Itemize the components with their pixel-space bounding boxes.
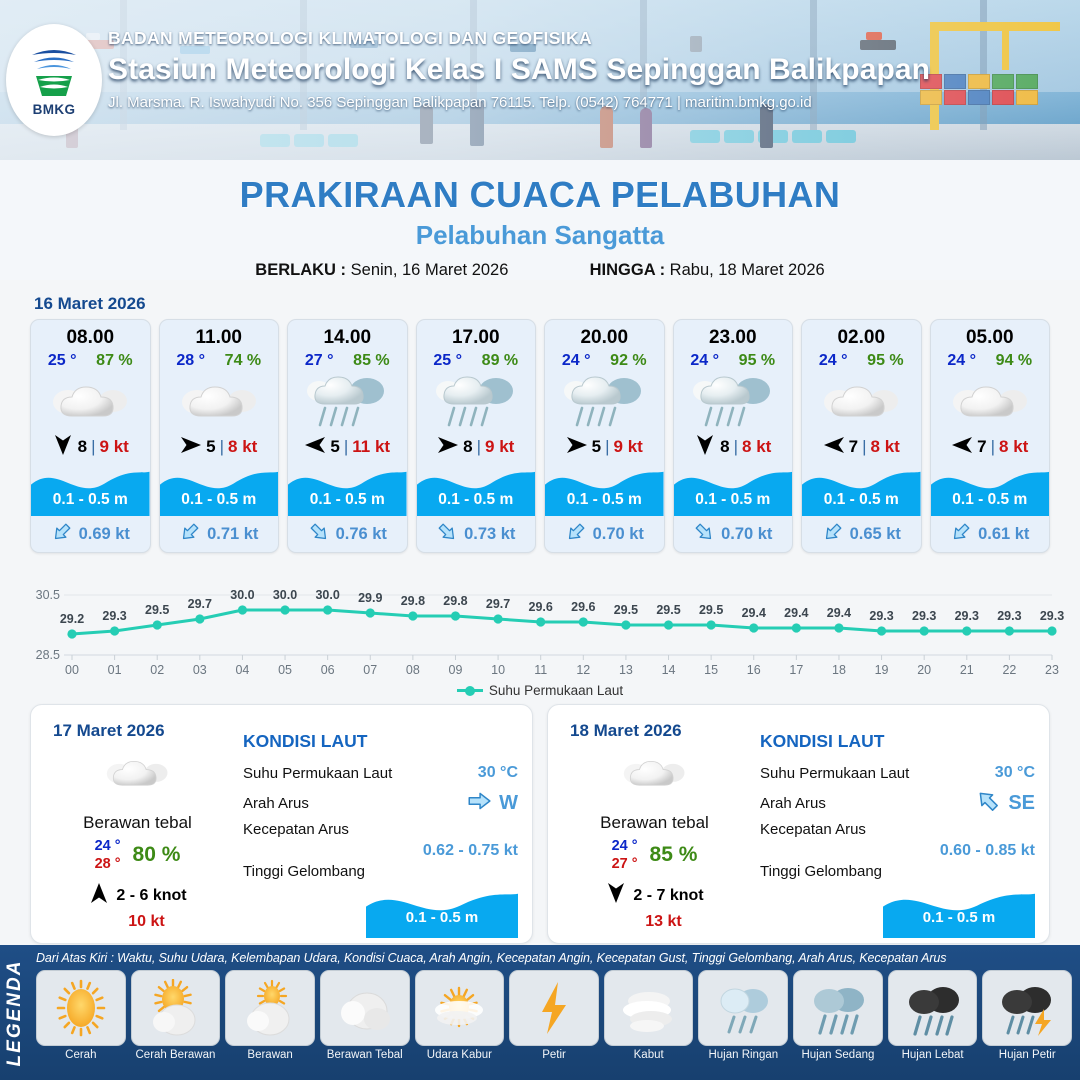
svg-text:08: 08 [406,663,420,677]
svg-text:00: 00 [65,663,79,677]
svg-text:03: 03 [193,663,207,677]
cloud-sun-small-icon [225,970,315,1046]
card-wave-height: 0.1 - 0.5 m [802,491,921,509]
svg-text:17: 17 [789,663,803,677]
day-condition: Berawan tebal [45,813,230,833]
svg-text:29.7: 29.7 [188,597,212,611]
svg-text:29.8: 29.8 [443,594,467,608]
svg-text:11: 11 [534,663,547,677]
day-wave-value: 0.1 - 0.5 m [883,909,1035,926]
legend-item-label: Kabut [604,1049,694,1061]
forecast-card: 02.00 24 ° 95 % 7 | 8 kt 0.1 - 0.5 m [801,319,922,553]
card-time: 17.00 [417,320,536,349]
sst-value: 30 °C [995,764,1035,782]
title-block: PRAKIRAAN CUACA PELABUHAN Pelabuhan Sang… [0,160,1080,280]
header-text-block: BADAN METEOROLOGI KLIMATOLOGI DAN GEOFIS… [108,28,930,111]
legend-item: Berawan [225,970,315,1061]
current-direction-arrow-icon [693,521,715,548]
card-time: 23.00 [674,320,793,349]
card-temperature: 27 ° [305,352,334,370]
hingga-label: HINGGA : [590,261,665,279]
legend-note: Dari Atas Kiri : Waktu, Suhu Udara, Kele… [36,951,1072,965]
card-wave: 0.1 - 0.5 m [31,462,150,516]
svg-text:29.3: 29.3 [912,609,936,623]
card-wave: 0.1 - 0.5 m [160,462,279,516]
card-separator: | [605,437,609,457]
legend-item: Cerah Berawan [131,970,221,1061]
card-temperature: 25 ° [433,352,462,370]
fog-icon [604,970,694,1046]
card-wind-speed: 7 [849,437,858,457]
forecast-card: 20.00 24 ° 92 % 5 | 9 kt [544,319,665,553]
card-time: 02.00 [802,320,921,349]
station-address: Jl. Marsma. R. Iswahyudi No. 356 Sepingg… [108,94,930,111]
current-speed-label: Kecepatan Arus [243,821,349,838]
svg-text:29.9: 29.9 [358,591,382,605]
current-speed-value: 0.62 - 0.75 kt [243,842,518,860]
svg-text:29.3: 29.3 [955,609,979,623]
svg-text:13: 13 [619,663,633,677]
svg-text:29.5: 29.5 [699,603,723,617]
weather-hujan-ringan-icon [288,370,407,432]
legend-item-label: Berawan [225,1049,315,1061]
card-separator: | [344,437,348,457]
sun-icon [36,970,126,1046]
day-temp-max: 28 ° [95,855,121,873]
card-gust: 9 kt [614,437,643,457]
card-humidity: 74 % [225,352,261,370]
card-wave-height: 0.1 - 0.5 m [160,491,279,509]
svg-text:01: 01 [108,663,122,677]
legend-side-label: LEGENDA [0,945,30,1080]
forecast-card: 11.00 28 ° 74 % 5 | 8 kt 0.1 - 0.5 m [159,319,280,553]
day-date: 17 Maret 2026 [53,721,165,741]
legend-item-label: Hujan Petir [982,1049,1072,1061]
card-humidity: 89 % [482,352,518,370]
legend-item: Udara Kabur [415,970,505,1061]
svg-text:19: 19 [875,663,889,677]
day-gust: 13 kt [562,913,747,931]
chart-legend: Suhu Permukaan Laut [0,683,1080,698]
legend-item: Petir [509,970,599,1061]
bmkg-logo-mark [26,43,82,101]
card-current-speed: 0.70 kt [593,525,644,544]
svg-text:20: 20 [917,663,931,677]
card-humidity: 85 % [353,352,389,370]
card-humidity: 95 % [739,352,775,370]
card-gust: 9 kt [485,437,514,457]
current-direction-arrow-icon [179,521,201,548]
wind-direction-arrow-icon [88,881,110,910]
svg-text:10: 10 [491,663,505,677]
berlaku-label: BERLAKU : [255,261,346,279]
sst-label: Suhu Permukaan Laut [243,765,392,782]
card-gust: 8 kt [871,437,900,457]
day-temp-max: 27 ° [612,855,638,873]
wind-direction-arrow-icon [437,433,459,462]
card-current-speed: 0.69 kt [79,525,130,544]
svg-text:29.2: 29.2 [60,612,84,626]
card-wave-height: 0.1 - 0.5 m [31,491,150,509]
day-wave: 0.1 - 0.5 m [366,884,518,936]
card-humidity: 95 % [867,352,903,370]
svg-text:30.0: 30.0 [230,588,254,602]
current-direction-arrow-icon [565,521,587,548]
legend-item: Hujan Ringan [698,970,788,1061]
card-wave: 0.1 - 0.5 m [802,462,921,516]
berlaku-value: Senin, 16 Maret 2026 [351,261,509,279]
card-temperature: 24 ° [562,352,591,370]
card-wave-height: 0.1 - 0.5 m [545,491,664,509]
card-gust: 11 kt [352,437,390,457]
svg-text:28.5: 28.5 [36,648,60,662]
wave-height-label: Tinggi Gelombang [760,863,882,880]
legend-item-label: Udara Kabur [415,1049,505,1061]
card-temperature: 25 ° [48,352,77,370]
day-wind-range: 2 - 6 knot [116,887,186,905]
sst-label: Suhu Permukaan Laut [760,765,909,782]
weather-berawan-tebal-icon [931,370,1050,432]
hingga-value: Rabu, 18 Maret 2026 [670,261,825,279]
card-separator: | [220,437,224,457]
cloud-thick-icon [320,970,410,1046]
wind-direction-arrow-icon [52,433,74,462]
svg-text:06: 06 [321,663,335,677]
svg-text:29.7: 29.7 [486,597,510,611]
svg-text:30.5: 30.5 [36,588,60,602]
current-direction-arrow-icon [51,521,73,548]
wind-direction-arrow-icon [951,433,973,462]
card-current-speed: 0.71 kt [207,525,258,544]
card-humidity: 87 % [96,352,132,370]
svg-text:14: 14 [662,663,676,677]
daily-forecast-panels: 17 Maret 2026 Berawan tebal 24 ° 28 ° 80… [0,698,1080,944]
svg-text:18: 18 [832,663,846,677]
wind-direction-arrow-icon [566,433,588,462]
page-header: BMKG BADAN METEOROLOGI KLIMATOLOGI DAN G… [0,0,1080,160]
card-temperature: 24 ° [690,352,719,370]
legend-item-label: Petir [509,1049,599,1061]
agency-name: BADAN METEOROLOGI KLIMATOLOGI DAN GEOFIS… [108,28,930,49]
current-speed-value: 0.60 - 0.85 kt [760,842,1035,860]
svg-text:04: 04 [235,663,249,677]
current-direction-arrow-icon [822,521,844,548]
wind-direction-arrow-icon [823,433,845,462]
chart-legend-marker-icon [457,689,483,692]
card-gust: 8 kt [228,437,257,457]
card-temperature: 28 ° [176,352,205,370]
wind-direction-arrow-icon [304,433,326,462]
legend-item: Berawan Tebal [320,970,410,1061]
card-time: 05.00 [931,320,1050,349]
current-direction-arrow-icon [950,521,972,548]
wind-direction-arrow-icon [605,881,627,910]
arrow-southeast-icon [975,788,1001,818]
daily-forecast-panel: 18 Maret 2026 Berawan tebal 24 ° 27 ° 85… [547,704,1050,944]
svg-text:29.6: 29.6 [571,600,595,614]
forecast-date-label: 16 Maret 2026 [34,294,1080,314]
sst-value: 30 °C [478,764,518,782]
current-direction-label: Arah Arus [243,795,309,812]
day-humidity: 80 % [133,843,181,867]
svg-text:29.3: 29.3 [102,609,126,623]
page-subtitle: Pelabuhan Sangatta [0,220,1080,251]
svg-text:12: 12 [576,663,590,677]
weather-berawan-tebal-icon [45,747,230,799]
current-direction-arrow-icon [436,521,458,548]
weather-berawan-tebal-icon [160,370,279,432]
card-separator: | [477,437,481,457]
svg-text:29.6: 29.6 [529,600,553,614]
card-current-speed: 0.65 kt [850,525,901,544]
station-name: Stasiun Meteorologi Kelas I SAMS Sepingg… [108,53,930,87]
svg-text:23: 23 [1045,663,1059,677]
card-current-speed: 0.73 kt [464,525,515,544]
sea-condition-title: KONDISI LAUT [760,731,1035,752]
card-separator: | [734,437,738,457]
card-humidity: 94 % [996,352,1032,370]
card-wind-speed: 5 [206,437,215,457]
weather-berawan-tebal-icon [31,370,150,432]
day-temp-min: 24 ° [612,837,638,855]
card-current-speed: 0.76 kt [336,525,387,544]
bmkg-logo: BMKG [6,24,102,136]
legend-items: Cerah Cerah Berawan Berawan Berawan Teba… [36,970,1072,1061]
card-current-speed: 0.70 kt [721,525,772,544]
legend-item: Hujan Lebat [888,970,978,1061]
card-wind-speed: 8 [78,437,87,457]
svg-text:30.0: 30.0 [315,588,339,602]
forecast-card: 05.00 24 ° 94 % 7 | 8 kt 0.1 - 0.5 m [930,319,1051,553]
svg-text:29.8: 29.8 [401,594,425,608]
svg-text:29.4: 29.4 [784,606,808,620]
card-gust: 9 kt [100,437,129,457]
svg-text:15: 15 [704,663,718,677]
current-direction-arrow-icon [308,521,330,548]
legend-item-label: Cerah Berawan [131,1049,221,1061]
current-speed-label: Kecepatan Arus [760,821,866,838]
haze-icon [415,970,505,1046]
card-time: 14.00 [288,320,407,349]
svg-text:29.4: 29.4 [742,606,766,620]
legend-item-label: Hujan Ringan [698,1049,788,1061]
card-wind-speed: 5 [592,437,601,457]
legend-item: Cerah [36,970,126,1061]
sun-cloud-icon [131,970,221,1046]
card-separator: | [991,437,995,457]
card-wind-speed: 8 [720,437,729,457]
svg-text:29.5: 29.5 [145,603,169,617]
weather-berawan-tebal-icon [802,370,921,432]
card-wave-height: 0.1 - 0.5 m [931,491,1050,509]
card-wave-height: 0.1 - 0.5 m [288,491,407,509]
forecast-card: 14.00 27 ° 85 % 5 | 11 kt [287,319,408,553]
day-date: 18 Maret 2026 [570,721,682,741]
card-wave: 0.1 - 0.5 m [545,462,664,516]
card-wind-speed: 5 [330,437,339,457]
sst-chart: 30.528.500010203040506070809101112131415… [14,563,1066,681]
forecast-card: 17.00 25 ° 89 % 8 | 9 kt [416,319,537,553]
arrow-west-icon [466,788,492,818]
svg-text:29.3: 29.3 [1040,609,1064,623]
hourly-forecast-cards: 08.00 25 ° 87 % 8 | 9 kt 0.1 - 0.5 m [0,319,1080,553]
rain-thunder-icon [982,970,1072,1046]
legend-bar: LEGENDA Dari Atas Kiri : Waktu, Suhu Uda… [0,945,1080,1080]
current-direction-label: Arah Arus [760,795,826,812]
card-wave-height: 0.1 - 0.5 m [674,491,793,509]
svg-text:29.5: 29.5 [614,603,638,617]
day-wave: 0.1 - 0.5 m [883,884,1035,936]
card-time: 20.00 [545,320,664,349]
wave-height-label: Tinggi Gelombang [243,863,365,880]
legend-item-label: Cerah [36,1049,126,1061]
card-time: 11.00 [160,320,279,349]
legend-item: Kabut [604,970,694,1061]
legend-item-label: Hujan Sedang [793,1049,883,1061]
forecast-card: 08.00 25 ° 87 % 8 | 9 kt 0.1 - 0.5 m [30,319,151,553]
sst-chart-svg: 30.528.500010203040506070809101112131415… [14,563,1066,681]
card-wave-height: 0.1 - 0.5 m [417,491,536,509]
weather-berawan-tebal-icon [562,747,747,799]
current-direction-value: W [499,792,518,815]
weather-hujan-ringan-icon [674,370,793,432]
current-direction-value: SE [1008,792,1035,815]
day-wave-value: 0.1 - 0.5 m [366,909,518,926]
card-gust: 8 kt [999,437,1028,457]
card-wave: 0.1 - 0.5 m [674,462,793,516]
daily-forecast-panel: 17 Maret 2026 Berawan tebal 24 ° 28 ° 80… [30,704,533,944]
svg-text:29.5: 29.5 [656,603,680,617]
svg-text:29.3: 29.3 [869,609,893,623]
card-gust: 8 kt [742,437,771,457]
day-wind-range: 2 - 7 knot [633,887,703,905]
svg-text:29.4: 29.4 [827,606,851,620]
rain-moderate-icon [793,970,883,1046]
svg-text:21: 21 [960,663,974,677]
svg-text:29.3: 29.3 [997,609,1021,623]
sea-condition-title: KONDISI LAUT [243,731,518,752]
svg-text:05: 05 [278,663,292,677]
legend-item: Hujan Sedang [793,970,883,1061]
legend-item-label: Hujan Lebat [888,1049,978,1061]
card-current-speed: 0.61 kt [978,525,1029,544]
weather-hujan-ringan-icon [417,370,536,432]
card-humidity: 92 % [610,352,646,370]
day-humidity: 85 % [650,843,698,867]
svg-text:30.0: 30.0 [273,588,297,602]
card-wind-speed: 7 [977,437,986,457]
forecast-card: 23.00 24 ° 95 % 8 | 8 kt [673,319,794,553]
rain-light-icon [698,970,788,1046]
wind-direction-arrow-icon [180,433,202,462]
card-time: 08.00 [31,320,150,349]
svg-text:07: 07 [363,663,377,677]
card-wave: 0.1 - 0.5 m [417,462,536,516]
svg-text:02: 02 [150,663,164,677]
card-temperature: 24 ° [819,352,848,370]
day-gust: 10 kt [45,913,230,931]
bmkg-logo-text: BMKG [33,102,76,117]
card-separator: | [862,437,866,457]
card-separator: | [91,437,95,457]
chart-legend-label: Suhu Permukaan Laut [489,683,623,698]
wind-direction-arrow-icon [694,433,716,462]
card-temperature: 24 ° [947,352,976,370]
legend-item-label: Berawan Tebal [320,1049,410,1061]
svg-text:22: 22 [1002,663,1016,677]
validity-row: BERLAKU : Senin, 16 Maret 2026 HINGGA : … [0,261,1080,280]
legend-item: Hujan Petir [982,970,1072,1061]
day-temp-min: 24 ° [95,837,121,855]
rain-heavy-icon [888,970,978,1046]
card-wind-speed: 8 [463,437,472,457]
card-wave: 0.1 - 0.5 m [931,462,1050,516]
lightning-icon [509,970,599,1046]
card-wave: 0.1 - 0.5 m [288,462,407,516]
svg-text:16: 16 [747,663,761,677]
day-condition: Berawan tebal [562,813,747,833]
svg-text:09: 09 [449,663,463,677]
weather-hujan-ringan-icon [545,370,664,432]
page-title: PRAKIRAAN CUACA PELABUHAN [0,174,1080,216]
